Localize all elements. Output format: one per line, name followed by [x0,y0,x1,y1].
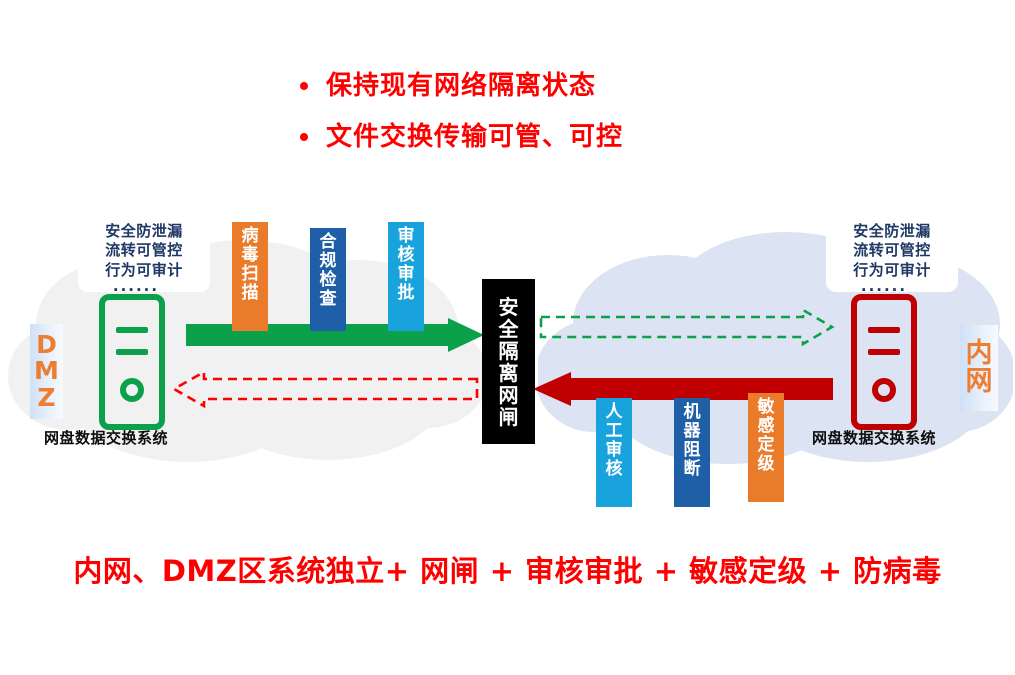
intranet-zone-chip: 内 网 [960,325,998,411]
char: 查 [320,290,337,309]
intranet-char-1: 内 [966,340,993,368]
char: 审 [398,265,415,284]
char: 合 [320,233,337,252]
green-dashed-right-arrow [541,310,834,344]
bullet-dot-icon [300,133,308,141]
char: 检 [320,271,337,290]
diagram-canvas: 保持现有网络隔离状态 文件交换传输可管、可控 [0,0,1015,675]
dmz-system-caption: 网盘数据交换系统 [44,427,168,448]
char: 级 [758,455,775,474]
char: 扫 [242,265,259,284]
label-manual-review: 人 工 审 核 [596,398,632,507]
dmz-letter-m: M [34,358,59,384]
label-virus-scan: 病 毒 扫 描 [232,222,268,331]
char: 敏 [758,398,775,417]
callout-line-3: 行为可审计 [105,261,183,280]
bullet-item: 保持现有网络隔离状态 [300,72,800,101]
dmz-zone-chip: D M Z [30,324,63,419]
char: 阻 [684,441,701,460]
security-gateway-box: 安 全 隔 离 网 闸 [482,279,535,444]
char: 审 [398,227,415,246]
server-tower-icon [99,294,165,430]
gateway-char-2: 全 [499,318,519,340]
char: 人 [606,403,623,422]
callout-line-3: 行为可审计 [853,261,931,280]
gateway-char-6: 闸 [499,406,519,428]
char: 审 [606,441,623,460]
char: 核 [398,246,415,265]
dmz-letter-z: Z [37,385,55,411]
gateway-char-5: 网 [499,384,519,406]
callout-line-2: 流转可管控 [853,241,931,260]
intranet-callout-box: 安全防泄漏 流转可管控 行为可审计 [826,208,958,292]
label-sensitivity-grading: 敏 感 定 级 [748,393,784,502]
gateway-char-4: 离 [499,362,519,384]
char: 批 [398,284,415,303]
char: 描 [242,284,259,303]
char: 器 [684,422,701,441]
callout-line-2: 流转可管控 [105,241,183,260]
label-machine-block: 机 器 阻 断 [674,398,710,507]
char: 断 [684,460,701,479]
server-tower-icon [851,294,917,430]
char: 规 [320,252,337,271]
char: 定 [758,436,775,455]
label-compliance-check: 合 规 检 查 [310,228,346,331]
dmz-callout-box: 安全防泄漏 流转可管控 行为可审计 [78,208,210,292]
intranet-char-2: 网 [966,368,993,396]
label-review-approval: 审 核 审 批 [388,222,424,331]
red-dashed-left-arrow [172,372,477,406]
bullet-dot-icon [300,82,308,90]
dmz-letter-d: D [36,332,57,358]
callout-line-1: 安全防泄漏 [105,222,183,241]
callout-line-1: 安全防泄漏 [853,222,931,241]
bullet-item: 文件交换传输可管、可控 [300,123,800,152]
char: 核 [606,460,623,479]
gateway-char-3: 隔 [499,340,519,362]
footer-summary: 内网、DMZ区系统独立+ 网闸 + 审核审批 + 敏感定级 + 防病毒 [0,548,1015,590]
bullet-text: 保持现有网络隔离状态 [326,72,596,101]
char: 工 [606,422,623,441]
intranet-system-caption: 网盘数据交换系统 [812,427,936,448]
gateway-char-1: 安 [499,296,519,318]
char: 毒 [242,246,259,265]
char: 感 [758,417,775,436]
char: 机 [684,403,701,422]
bullet-list: 保持现有网络隔离状态 文件交换传输可管、可控 [300,72,800,173]
bullet-text: 文件交换传输可管、可控 [326,123,623,152]
char: 病 [242,227,259,246]
